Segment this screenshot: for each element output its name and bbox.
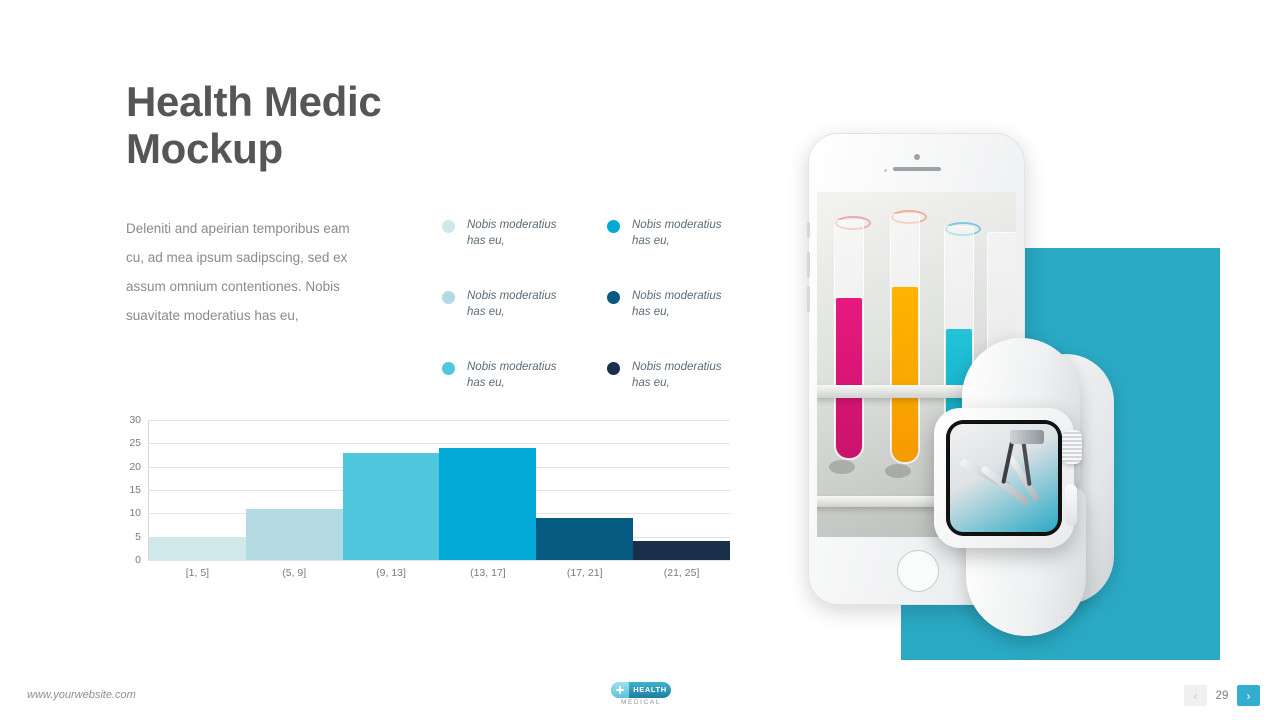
chart-x-tick-label: (9, 13] xyxy=(343,567,440,579)
next-slide-button[interactable]: › xyxy=(1237,685,1260,706)
chart-bar-slot xyxy=(536,420,633,560)
chart-plot-area: 302520151050 xyxy=(148,420,730,560)
rack-hole xyxy=(829,460,855,474)
legend-item-label: Nobis moderatius has eu, xyxy=(632,360,721,391)
legend-item[interactable]: Nobis moderatius has eu, xyxy=(442,218,556,249)
chart-bar[interactable] xyxy=(439,448,536,560)
logo-pill: HEALTH xyxy=(611,682,671,698)
legend-item-label: Nobis moderatius has eu, xyxy=(632,218,721,249)
legend-item[interactable]: Nobis moderatius has eu, xyxy=(607,289,721,320)
chart-y-tick-label: 0 xyxy=(135,554,141,566)
legend-item[interactable]: Nobis moderatius has eu, xyxy=(607,218,721,249)
chart-bar-slot xyxy=(343,420,440,560)
phone-proximity-sensor-icon xyxy=(884,169,887,172)
chart-bar[interactable] xyxy=(633,541,730,560)
legend-color-swatch-icon xyxy=(442,220,455,233)
phone-volume-up-button xyxy=(807,252,810,278)
chart-y-tick-label: 5 xyxy=(135,531,141,543)
legend-color-swatch-icon xyxy=(607,362,620,375)
phone-ring-switch xyxy=(807,222,810,238)
legend-item[interactable]: Nobis moderatius has eu, xyxy=(442,289,556,320)
legend-item-label: Nobis moderatius has eu, xyxy=(467,360,556,391)
chart-y-tick-label: 10 xyxy=(129,507,141,519)
logo-subtitle: MEDICAL xyxy=(611,699,671,706)
legend-color-swatch-icon xyxy=(442,291,455,304)
chart-x-axis-labels: [1, 5](5, 9](9, 13](13, 17](17, 21](21, … xyxy=(149,567,730,579)
footer-website-url[interactable]: www.yourwebsite.com xyxy=(27,689,136,701)
bar-chart: 302520151050 [1, 5](5, 9](9, 13](13, 17]… xyxy=(126,415,730,587)
device-mockup-artwork xyxy=(780,120,1240,665)
legend-color-swatch-icon xyxy=(607,220,620,233)
chart-bar-slot xyxy=(149,420,246,560)
medical-plus-icon xyxy=(611,682,629,698)
chart-y-tick-label: 20 xyxy=(129,461,141,473)
slide-canvas: Health Medic Mockup Deleniti and apeiria… xyxy=(0,0,1280,720)
apple-watch-mockup xyxy=(930,338,1115,638)
chart-bar-slot xyxy=(633,420,730,560)
chart-bars xyxy=(149,420,730,560)
legend-color-swatch-icon xyxy=(442,362,455,375)
phone-volume-down-button xyxy=(807,286,810,312)
logo-word: HEALTH xyxy=(629,682,671,698)
watch-side-button[interactable] xyxy=(1065,484,1077,526)
chart-x-tick-label: [1, 5] xyxy=(149,567,246,579)
chart-bar-slot xyxy=(246,420,343,560)
chart-bar[interactable] xyxy=(246,509,343,560)
chart-bar[interactable] xyxy=(536,518,633,560)
watch-digital-crown[interactable] xyxy=(1062,430,1082,464)
legend-color-swatch-icon xyxy=(607,291,620,304)
legend-item-label: Nobis moderatius has eu, xyxy=(467,289,556,320)
phone-earpiece-speaker xyxy=(893,167,941,171)
page-number: 29 xyxy=(1207,690,1237,702)
chart-y-tick-label: 15 xyxy=(129,484,141,496)
test-tube-magenta xyxy=(834,220,864,460)
pagination: ‹ 29 › xyxy=(1184,685,1260,706)
chart-x-tick-label: (21, 25] xyxy=(633,567,730,579)
body-paragraph: Deleniti and apeirian temporibus eam cu,… xyxy=(126,214,366,330)
chart-bar-slot xyxy=(439,420,536,560)
dental-tools-image xyxy=(950,424,1058,532)
chart-bar[interactable] xyxy=(149,537,246,560)
brand-logo: HEALTH MEDICAL xyxy=(611,682,671,706)
legend-item-label: Nobis moderatius has eu, xyxy=(467,218,556,249)
page-title: Health Medic Mockup xyxy=(126,78,546,172)
chart-gridline xyxy=(148,560,730,561)
legend-item-label: Nobis moderatius has eu, xyxy=(632,289,721,320)
rack-hole xyxy=(885,464,911,478)
legend-item[interactable]: Nobis moderatius has eu, xyxy=(607,360,721,391)
chart-x-tick-label: (17, 21] xyxy=(536,567,633,579)
legend-item[interactable]: Nobis moderatius has eu, xyxy=(442,360,556,391)
chart-x-tick-label: (13, 17] xyxy=(439,567,536,579)
chart-x-tick-label: (5, 9] xyxy=(246,567,343,579)
legend: Nobis moderatius has eu, Nobis moderatiu… xyxy=(442,210,742,390)
prev-slide-button[interactable]: ‹ xyxy=(1184,685,1207,706)
tool-head xyxy=(1010,430,1044,444)
phone-front-camera-icon xyxy=(914,154,920,160)
watch-screen xyxy=(946,420,1062,536)
test-tube-orange xyxy=(890,214,920,464)
chart-bar[interactable] xyxy=(343,453,440,560)
chart-y-tick-label: 25 xyxy=(129,437,141,449)
watch-case xyxy=(934,408,1074,548)
chart-y-tick-label: 30 xyxy=(129,414,141,426)
